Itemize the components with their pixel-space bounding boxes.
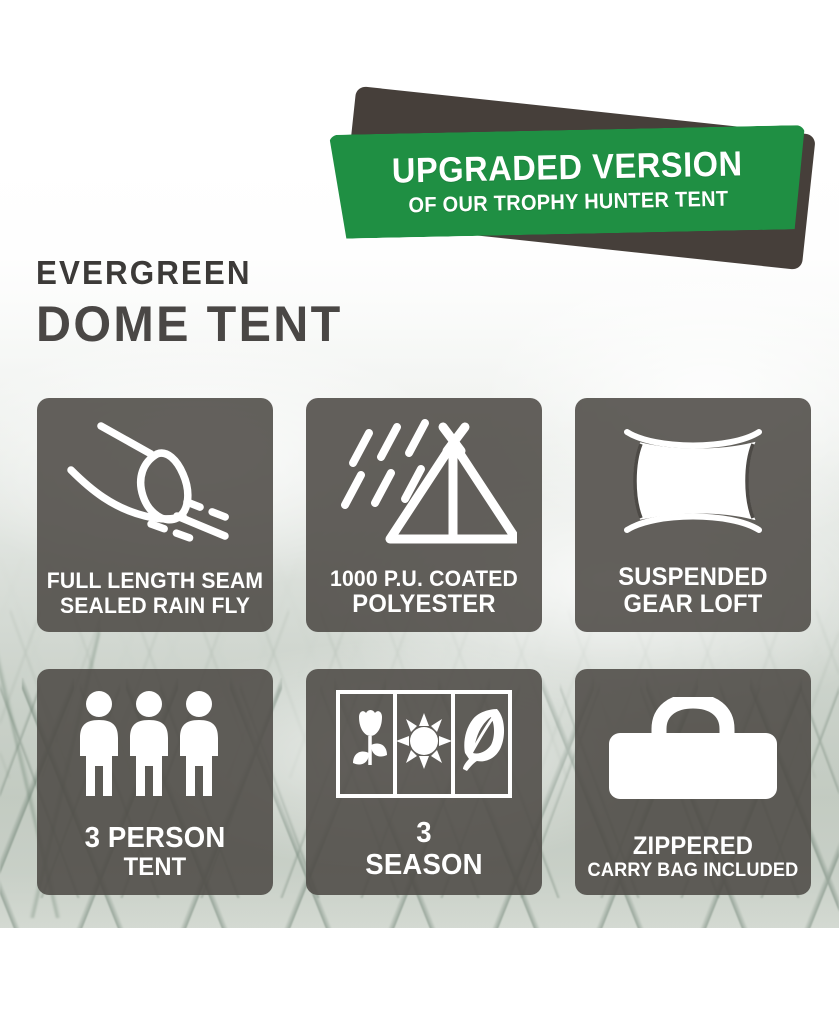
page-title: EVERGREEN DOME TENT <box>36 256 352 349</box>
banner-headline: UPGRADED VERSION <box>392 147 743 189</box>
feature-label-line2: POLYESTER <box>312 591 536 618</box>
feature-label: FULL LENGTH SEAM SEALED RAIN FLY <box>37 569 273 632</box>
feature-label: ZIPPERED CARRY BAG INCLUDED <box>575 833 811 895</box>
feature-label-line1: 3 PERSON <box>43 823 267 854</box>
feature-label-line1: FULL LENGTH SEAM <box>44 569 266 593</box>
feature-label-line2: CARRY BAG INCLUDED <box>583 860 802 881</box>
feature-tile-capacity: 3 PERSON TENT <box>37 669 273 895</box>
tent-rain-icon <box>306 398 542 567</box>
feature-label-line2: TENT <box>43 854 267 881</box>
upgrade-banner: UPGRADED VERSION OF OUR TROPHY HUNTER TE… <box>330 104 814 260</box>
feature-label-line1: 1000 P.U. COATED <box>313 567 535 591</box>
feature-label-line1: 3 <box>312 818 536 849</box>
feature-label-line2: SEASON <box>312 850 536 881</box>
feature-label: SUSPENDED GEAR LOFT <box>575 564 811 632</box>
feature-tile-polyester: 1000 P.U. COATED POLYESTER <box>306 398 542 632</box>
feature-label-line2: SEALED RAIN FLY <box>44 594 266 618</box>
feature-grid: FULL LENGTH SEAM SEALED RAIN FLY <box>37 398 811 895</box>
feature-label: 3 PERSON TENT <box>37 823 273 895</box>
three-season-icon <box>306 669 542 818</box>
feature-tile-seam-sealed: FULL LENGTH SEAM SEALED RAIN FLY <box>37 398 273 632</box>
feature-label: 3 SEASON <box>306 818 542 895</box>
product-eyebrow: EVERGREEN <box>36 256 336 289</box>
feature-tile-season: 3 SEASON <box>306 669 542 895</box>
feature-label-line1: SUSPENDED <box>581 564 805 591</box>
feature-label: 1000 P.U. COATED POLYESTER <box>306 567 542 632</box>
banner-green-ribbon: UPGRADED VERSION OF OUR TROPHY HUNTER TE… <box>329 125 807 239</box>
carry-bag-icon <box>575 669 811 833</box>
feature-label-line1: ZIPPERED <box>581 833 805 860</box>
feature-tile-gear-loft: SUSPENDED GEAR LOFT <box>575 398 811 632</box>
product-infographic: UPGRADED VERSION OF OUR TROPHY HUNTER TE… <box>0 0 839 1024</box>
needle-thread-icon <box>37 398 273 569</box>
product-title: DOME TENT <box>36 299 343 349</box>
gear-loft-icon <box>575 398 811 564</box>
feature-tile-carry-bag: ZIPPERED CARRY BAG INCLUDED <box>575 669 811 895</box>
three-people-icon <box>37 669 273 823</box>
feature-label-line2: GEAR LOFT <box>581 591 805 618</box>
banner-subhead: OF OUR TROPHY HUNTER TENT <box>408 189 728 217</box>
